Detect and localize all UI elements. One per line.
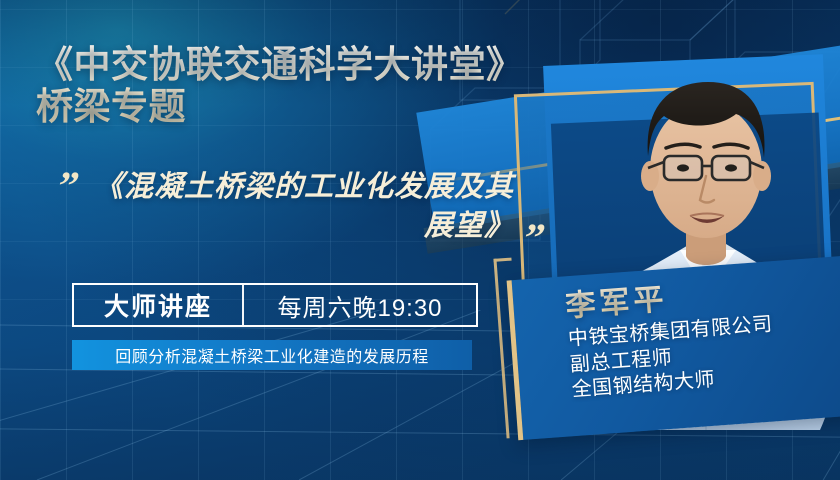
main-title-line-2: 桥梁专题 [36, 86, 556, 128]
main-title-line-1: 《中交协联交通科学大讲堂》 [36, 44, 524, 85]
tagline-bar: 回顾分析混凝土桥梁工业化建造的发展历程 [72, 340, 472, 370]
lecture-poster: 《中交协联交通科学大讲堂》 桥梁专题 ” 《混凝土桥梁的工业化发展及其展望》 ”… [0, 0, 840, 480]
speaker-info-panel: 李军平 中铁宝桥集团有限公司 副总工程师 全国钢结构大师 [507, 256, 840, 440]
page-title: 《中交协联交通科学大讲堂》 桥梁专题 [36, 44, 556, 128]
quote-block: ” 《混凝土桥梁的工业化发展及其展望》 ” [58, 166, 528, 266]
quote-text: 《混凝土桥梁的工业化发展及其展望》 [94, 168, 514, 246]
quote-mark-open-icon: ” [54, 166, 83, 206]
lecture-label: 大师讲座 [74, 287, 242, 323]
lecture-schedule-box: 大师讲座 每周六晚19:30 [72, 283, 478, 327]
lecture-time: 每周六晚19:30 [244, 288, 476, 323]
lecture-divider [242, 285, 244, 325]
